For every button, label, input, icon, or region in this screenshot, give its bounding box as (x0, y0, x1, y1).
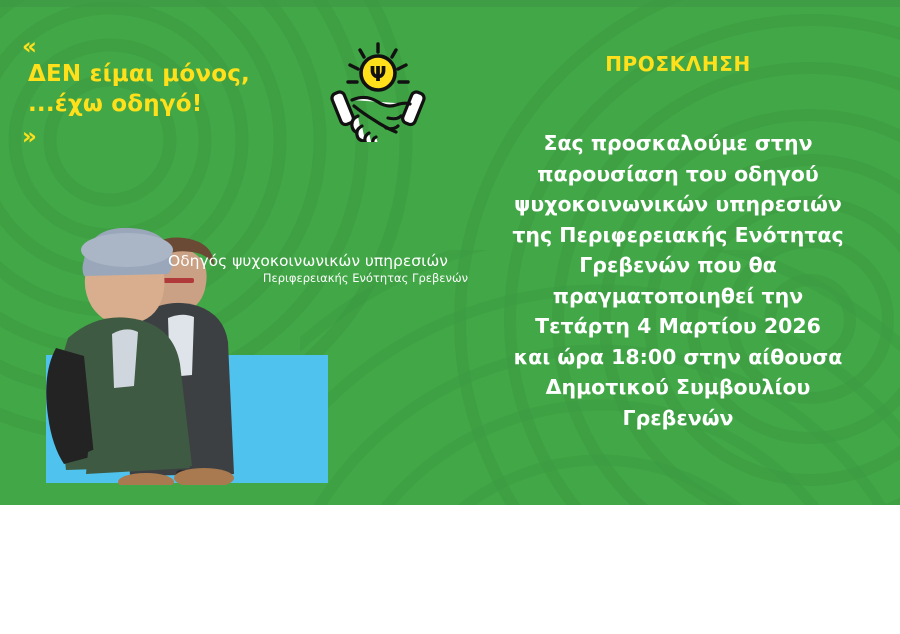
invitation-line: Δημοτικού Συμβουλίου (468, 372, 888, 403)
headline: « ΔΕΝ είμαι μόνος, ...έχω οδηγό! » (22, 40, 352, 144)
headline-line-1: ΔΕΝ είμαι μόνος, (28, 59, 352, 89)
quote-open-mark: « (22, 40, 352, 54)
invitation-line: Γρεβενών που θα (468, 250, 888, 281)
guide-caption: Οδηγός ψυχοκοινωνικών υπηρεσιών Περιφερε… (168, 252, 468, 286)
guide-subtitle: Περιφερειακής Ενότητας Γρεβενών (168, 271, 468, 286)
invitation-heading: ΠΡΟΣΚΛΗΣΗ (468, 52, 888, 76)
handshake-lightbulb-icon: Ψ (326, 38, 430, 142)
invitation-line: πραγματοποιηθεί την (468, 281, 888, 312)
invitation-poster: « ΔΕΝ είμαι μόνος, ...έχω οδηγό! » Ψ (0, 0, 900, 634)
headline-line-2: ...έχω οδηγό! (28, 89, 352, 119)
invitation-line: Γρεβενών (468, 403, 888, 434)
invitation-line: και ώρα 18:00 στην αίθουσα (468, 342, 888, 373)
quote-close-mark: » (22, 130, 352, 144)
invitation-line: παρουσίαση του οδηγού (468, 159, 888, 190)
guide-title: Οδηγός ψυχοκοινωνικών υπηρεσιών (168, 252, 468, 271)
footer-logo-strip: Κέντρο Πρόληψης των Εξαρτήσεων και Προαγ… (0, 505, 900, 634)
invitation-line: ψυχοκοινωνικών υπηρεσιών (468, 189, 888, 220)
people-photo (28, 152, 328, 485)
invitation-body: Σας προσκαλούμε στην παρουσίαση του οδηγ… (468, 128, 888, 433)
svg-text:Ψ: Ψ (370, 62, 387, 86)
invitation-block: ΠΡΟΣΚΛΗΣΗ Σας προσκαλούμε στην παρουσίασ… (468, 52, 888, 433)
invitation-line: Σας προσκαλούμε στην (468, 128, 888, 159)
green-background-panel: « ΔΕΝ είμαι μόνος, ...έχω οδηγό! » Ψ (0, 0, 900, 505)
invitation-line: της Περιφερειακής Ενότητας (468, 220, 888, 251)
invitation-line: Τετάρτη 4 Μαρτίου 2026 (468, 311, 888, 342)
